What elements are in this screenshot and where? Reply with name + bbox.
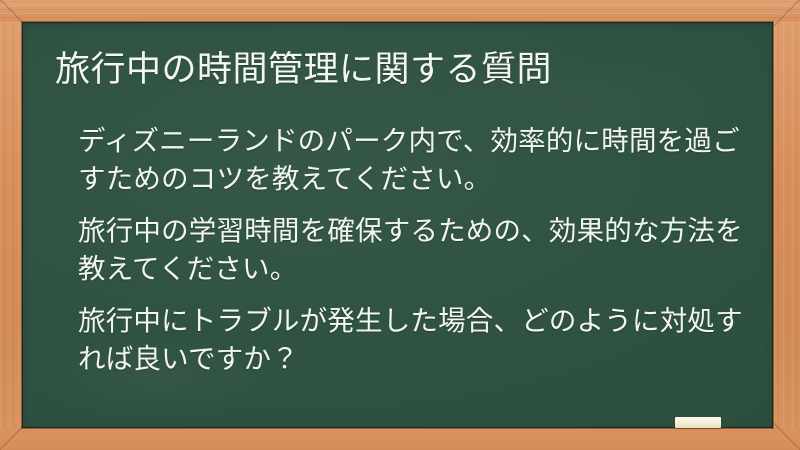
list-item: 旅行中にトラブルが発生した場合、どのように対処すれば良いですか？ [78,302,754,378]
blackboard-slide: 旅行中の時間管理に関する質問 ディズニーランドのパーク内で、効率的に時間を過ごす… [0,0,800,450]
frame-rail-top [0,0,800,22]
chalkboard-surface: 旅行中の時間管理に関する質問 ディズニーランドのパーク内で、効率的に時間を過ごす… [22,22,773,428]
frame-rail-bottom [0,428,800,450]
chalk-stick-icon [675,417,721,428]
page-title: 旅行中の時間管理に関する質問 [55,49,552,90]
list-item: ディズニーランドのパーク内で、効率的に時間を過ごすためのコツを教えてください。 [78,122,754,198]
list-item: 旅行中の学習時間を確保するための、効果的な方法を教えてください。 [78,212,754,288]
question-list: ディズニーランドのパーク内で、効率的に時間を過ごすためのコツを教えてください。 … [78,122,754,378]
